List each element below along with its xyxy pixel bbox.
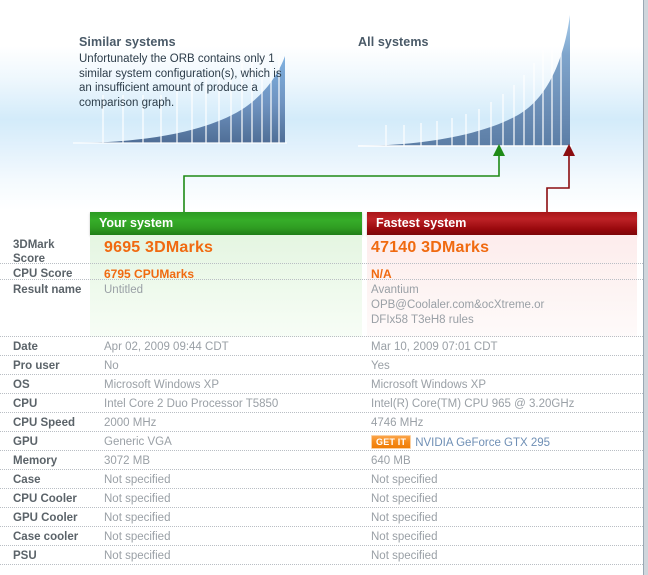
- score-value: 9695 3DMarks: [104, 239, 213, 256]
- result-comparison-page: Similar systems Unfortunately the ORB co…: [0, 0, 644, 575]
- fastest-value: AvantiumOPB@Coolaler.com&ocXtreme.orDFIx…: [371, 283, 631, 328]
- get-it-badge[interactable]: GET IT: [371, 435, 411, 449]
- table-row: Result nameUntitledAvantiumOPB@Coolaler.…: [0, 280, 643, 337]
- fastest-value: Not specified: [371, 511, 631, 526]
- table-row: CPU CoolerNot specifiedNot specified: [0, 489, 643, 508]
- row-label: 3DMark Score: [13, 238, 88, 266]
- fastest-system-header[interactable]: Fastest system: [367, 212, 637, 235]
- fastest-value: Not specified: [371, 473, 631, 488]
- your-value: 2000 MHz: [104, 416, 354, 431]
- table-row: Case coolerNot specifiedNot specified: [0, 527, 643, 546]
- all-systems-title: All systems: [358, 35, 429, 49]
- table-row: OSMicrosoft Windows XPMicrosoft Windows …: [0, 375, 643, 394]
- fastest-value: 4746 MHz: [371, 416, 631, 431]
- your-value: Not specified: [104, 473, 354, 488]
- your-value: No: [104, 359, 354, 374]
- your-value: Apr 02, 2009 09:44 CDT: [104, 340, 354, 355]
- row-label: Date: [13, 340, 88, 354]
- fastest-value: Yes: [371, 359, 631, 374]
- fastest-value: Not specified: [371, 492, 631, 507]
- row-label: Case cooler: [13, 530, 88, 544]
- row-label: Case: [13, 473, 88, 487]
- row-label: CPU Score: [13, 267, 88, 281]
- row-label: OS: [13, 378, 88, 392]
- value-line: OPB@Coolaler.com&ocXtreme.or: [371, 298, 631, 313]
- fastest-value: Microsoft Windows XP: [371, 378, 631, 393]
- row-label: CPU Cooler: [13, 492, 88, 506]
- table-row: CPU Score6795 CPUMarksN/A: [0, 264, 643, 280]
- row-label: CPU: [13, 397, 88, 411]
- your-value: Not specified: [104, 549, 354, 564]
- your-value: Generic VGA: [104, 435, 354, 450]
- table-row: PSUNot specifiedNot specified: [0, 546, 643, 565]
- table-row: Memory3072 MB640 MB: [0, 451, 643, 470]
- row-label: Result name: [13, 283, 88, 297]
- fastest-system-connector: [538, 142, 588, 217]
- comparison-table: 3DMark Score9695 3DMarks47140 3DMarksCPU…: [0, 235, 643, 565]
- your-value: Untitled: [104, 283, 354, 298]
- table-row: DateApr 02, 2009 09:44 CDTMar 10, 2009 0…: [0, 337, 643, 356]
- table-row: CPUIntel Core 2 Duo Processor T5850Intel…: [0, 394, 643, 413]
- your-value: 9695 3DMarks: [104, 240, 354, 257]
- cpu-score-value: N/A: [371, 267, 392, 281]
- row-label: CPU Speed: [13, 416, 88, 430]
- similar-systems-note: Unfortunately the ORB contains only 1 si…: [79, 52, 284, 110]
- row-label: GPU: [13, 435, 88, 449]
- your-value: Not specified: [104, 530, 354, 545]
- table-row: CaseNot specifiedNot specified: [0, 470, 643, 489]
- table-row: GPUGeneric VGAGET ITNVIDIA GeForce GTX 2…: [0, 432, 643, 451]
- your-value: Microsoft Windows XP: [104, 378, 354, 393]
- fastest-value: Not specified: [371, 530, 631, 545]
- fastest-value: 47140 3DMarks: [371, 240, 631, 257]
- similar-systems-title: Similar systems: [79, 35, 176, 49]
- fastest-value: 640 MB: [371, 454, 631, 469]
- table-row: 3DMark Score9695 3DMarks47140 3DMarks: [0, 235, 643, 264]
- your-system-connector: [178, 142, 508, 217]
- table-row: CPU Speed2000 MHz4746 MHz: [0, 413, 643, 432]
- row-label: PSU: [13, 549, 88, 563]
- fastest-value: Mar 10, 2009 07:01 CDT: [371, 340, 631, 355]
- cpu-score-value: 6795 CPUMarks: [104, 267, 194, 281]
- table-row: Pro userNoYes: [0, 356, 643, 375]
- value-line: Avantium: [371, 283, 631, 298]
- row-label: Pro user: [13, 359, 88, 373]
- score-value: 47140 3DMarks: [371, 239, 489, 256]
- gpu-name-link[interactable]: NVIDIA GeForce GTX 295: [415, 437, 550, 449]
- your-system-header[interactable]: Your system: [90, 212, 362, 235]
- row-label: GPU Cooler: [13, 511, 88, 525]
- fastest-value: Intel(R) Core(TM) CPU 965 @ 3.20GHz: [371, 397, 631, 412]
- row-label: Memory: [13, 454, 88, 468]
- your-value: Not specified: [104, 511, 354, 526]
- table-row: GPU CoolerNot specifiedNot specified: [0, 508, 643, 527]
- fastest-value: Not specified: [371, 549, 631, 564]
- fastest-value: GET ITNVIDIA GeForce GTX 295: [371, 435, 631, 451]
- your-value: Intel Core 2 Duo Processor T5850: [104, 397, 354, 412]
- your-value: Not specified: [104, 492, 354, 507]
- your-value: 3072 MB: [104, 454, 354, 469]
- value-line: DFIx58 T3eH8 rules: [371, 313, 631, 328]
